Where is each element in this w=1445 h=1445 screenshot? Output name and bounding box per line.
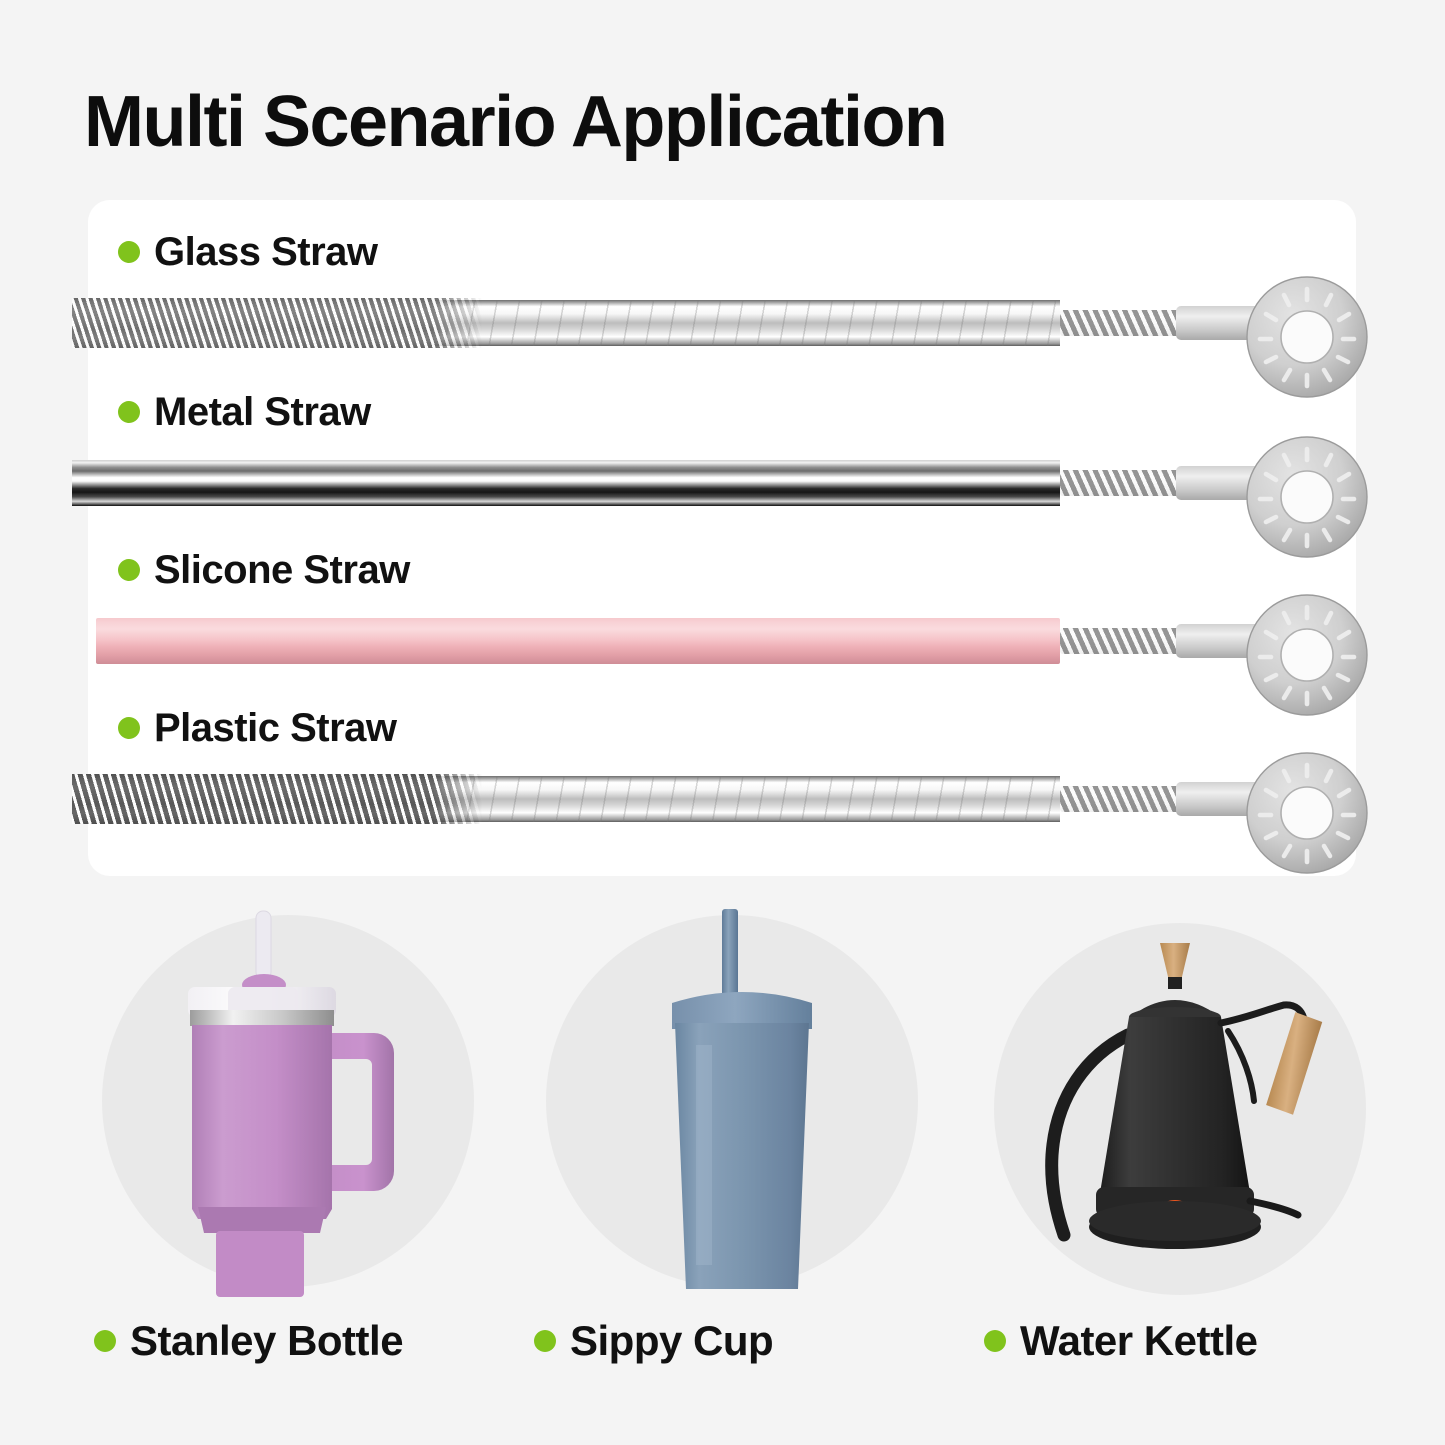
straw-tube-silicone — [96, 618, 1060, 664]
straw-assembly-silicone — [72, 596, 1372, 686]
brush-bristles-icon — [72, 298, 482, 348]
bullet-icon — [118, 717, 140, 739]
scenario-label-text: Stanley Bottle — [130, 1320, 403, 1362]
straw-label-text: Glass Straw — [154, 232, 378, 272]
twisted-wire — [1060, 310, 1180, 336]
scenario-label-stanley: Stanley Bottle — [94, 1320, 403, 1362]
brush-bristles-icon — [72, 774, 482, 824]
donut-ring-handle-icon — [1240, 270, 1374, 404]
straw-label-text: Plastic Straw — [154, 708, 397, 748]
bullet-icon — [118, 241, 140, 263]
straw-label-silicone: Slicone Straw — [118, 550, 410, 590]
scenario-label-text: Sippy Cup — [570, 1320, 773, 1362]
donut-ring-handle-icon — [1240, 588, 1374, 722]
scenario-label-sippy: Sippy Cup — [534, 1320, 773, 1362]
bullet-icon — [94, 1330, 116, 1352]
scenario-stanley-bottle[interactable]: Stanley Bottle — [88, 905, 508, 1405]
straw-label-glass: Glass Straw — [118, 232, 378, 272]
straw-comparison-card: Glass Straw — [88, 200, 1356, 876]
straw-assembly-plastic — [72, 754, 1372, 844]
scenario-water-kettle[interactable]: Water Kettle — [978, 905, 1398, 1405]
scenario-gallery: Stanley Bottle — [88, 905, 1358, 1405]
donut-ring-handle-icon — [1240, 430, 1374, 564]
straw-tube-metal — [72, 460, 1060, 506]
straw-label-text: Metal Straw — [154, 392, 371, 432]
bullet-icon — [984, 1330, 1006, 1352]
scenario-image-sippy — [528, 905, 948, 1305]
straw-assembly-metal — [72, 438, 1372, 528]
bullet-icon — [118, 559, 140, 581]
donut-ring-handle-icon — [1240, 746, 1374, 880]
scenario-sippy-cup[interactable]: Sippy Cup — [528, 905, 948, 1405]
twisted-wire — [1060, 470, 1180, 496]
straw-label-text: Slicone Straw — [154, 550, 410, 590]
straw-label-metal: Metal Straw — [118, 392, 371, 432]
straw-label-plastic: Plastic Straw — [118, 708, 397, 748]
straw-assembly-glass — [72, 278, 1372, 368]
scenario-label-text: Water Kettle — [1020, 1320, 1258, 1362]
bullet-icon — [534, 1330, 556, 1352]
bullet-icon — [118, 401, 140, 423]
scenario-label-kettle: Water Kettle — [984, 1320, 1258, 1362]
twisted-wire — [1060, 628, 1180, 654]
scenario-image-stanley — [88, 905, 508, 1305]
scenario-image-kettle — [978, 905, 1398, 1305]
page-title: Multi Scenario Application — [84, 86, 946, 158]
twisted-wire — [1060, 786, 1180, 812]
